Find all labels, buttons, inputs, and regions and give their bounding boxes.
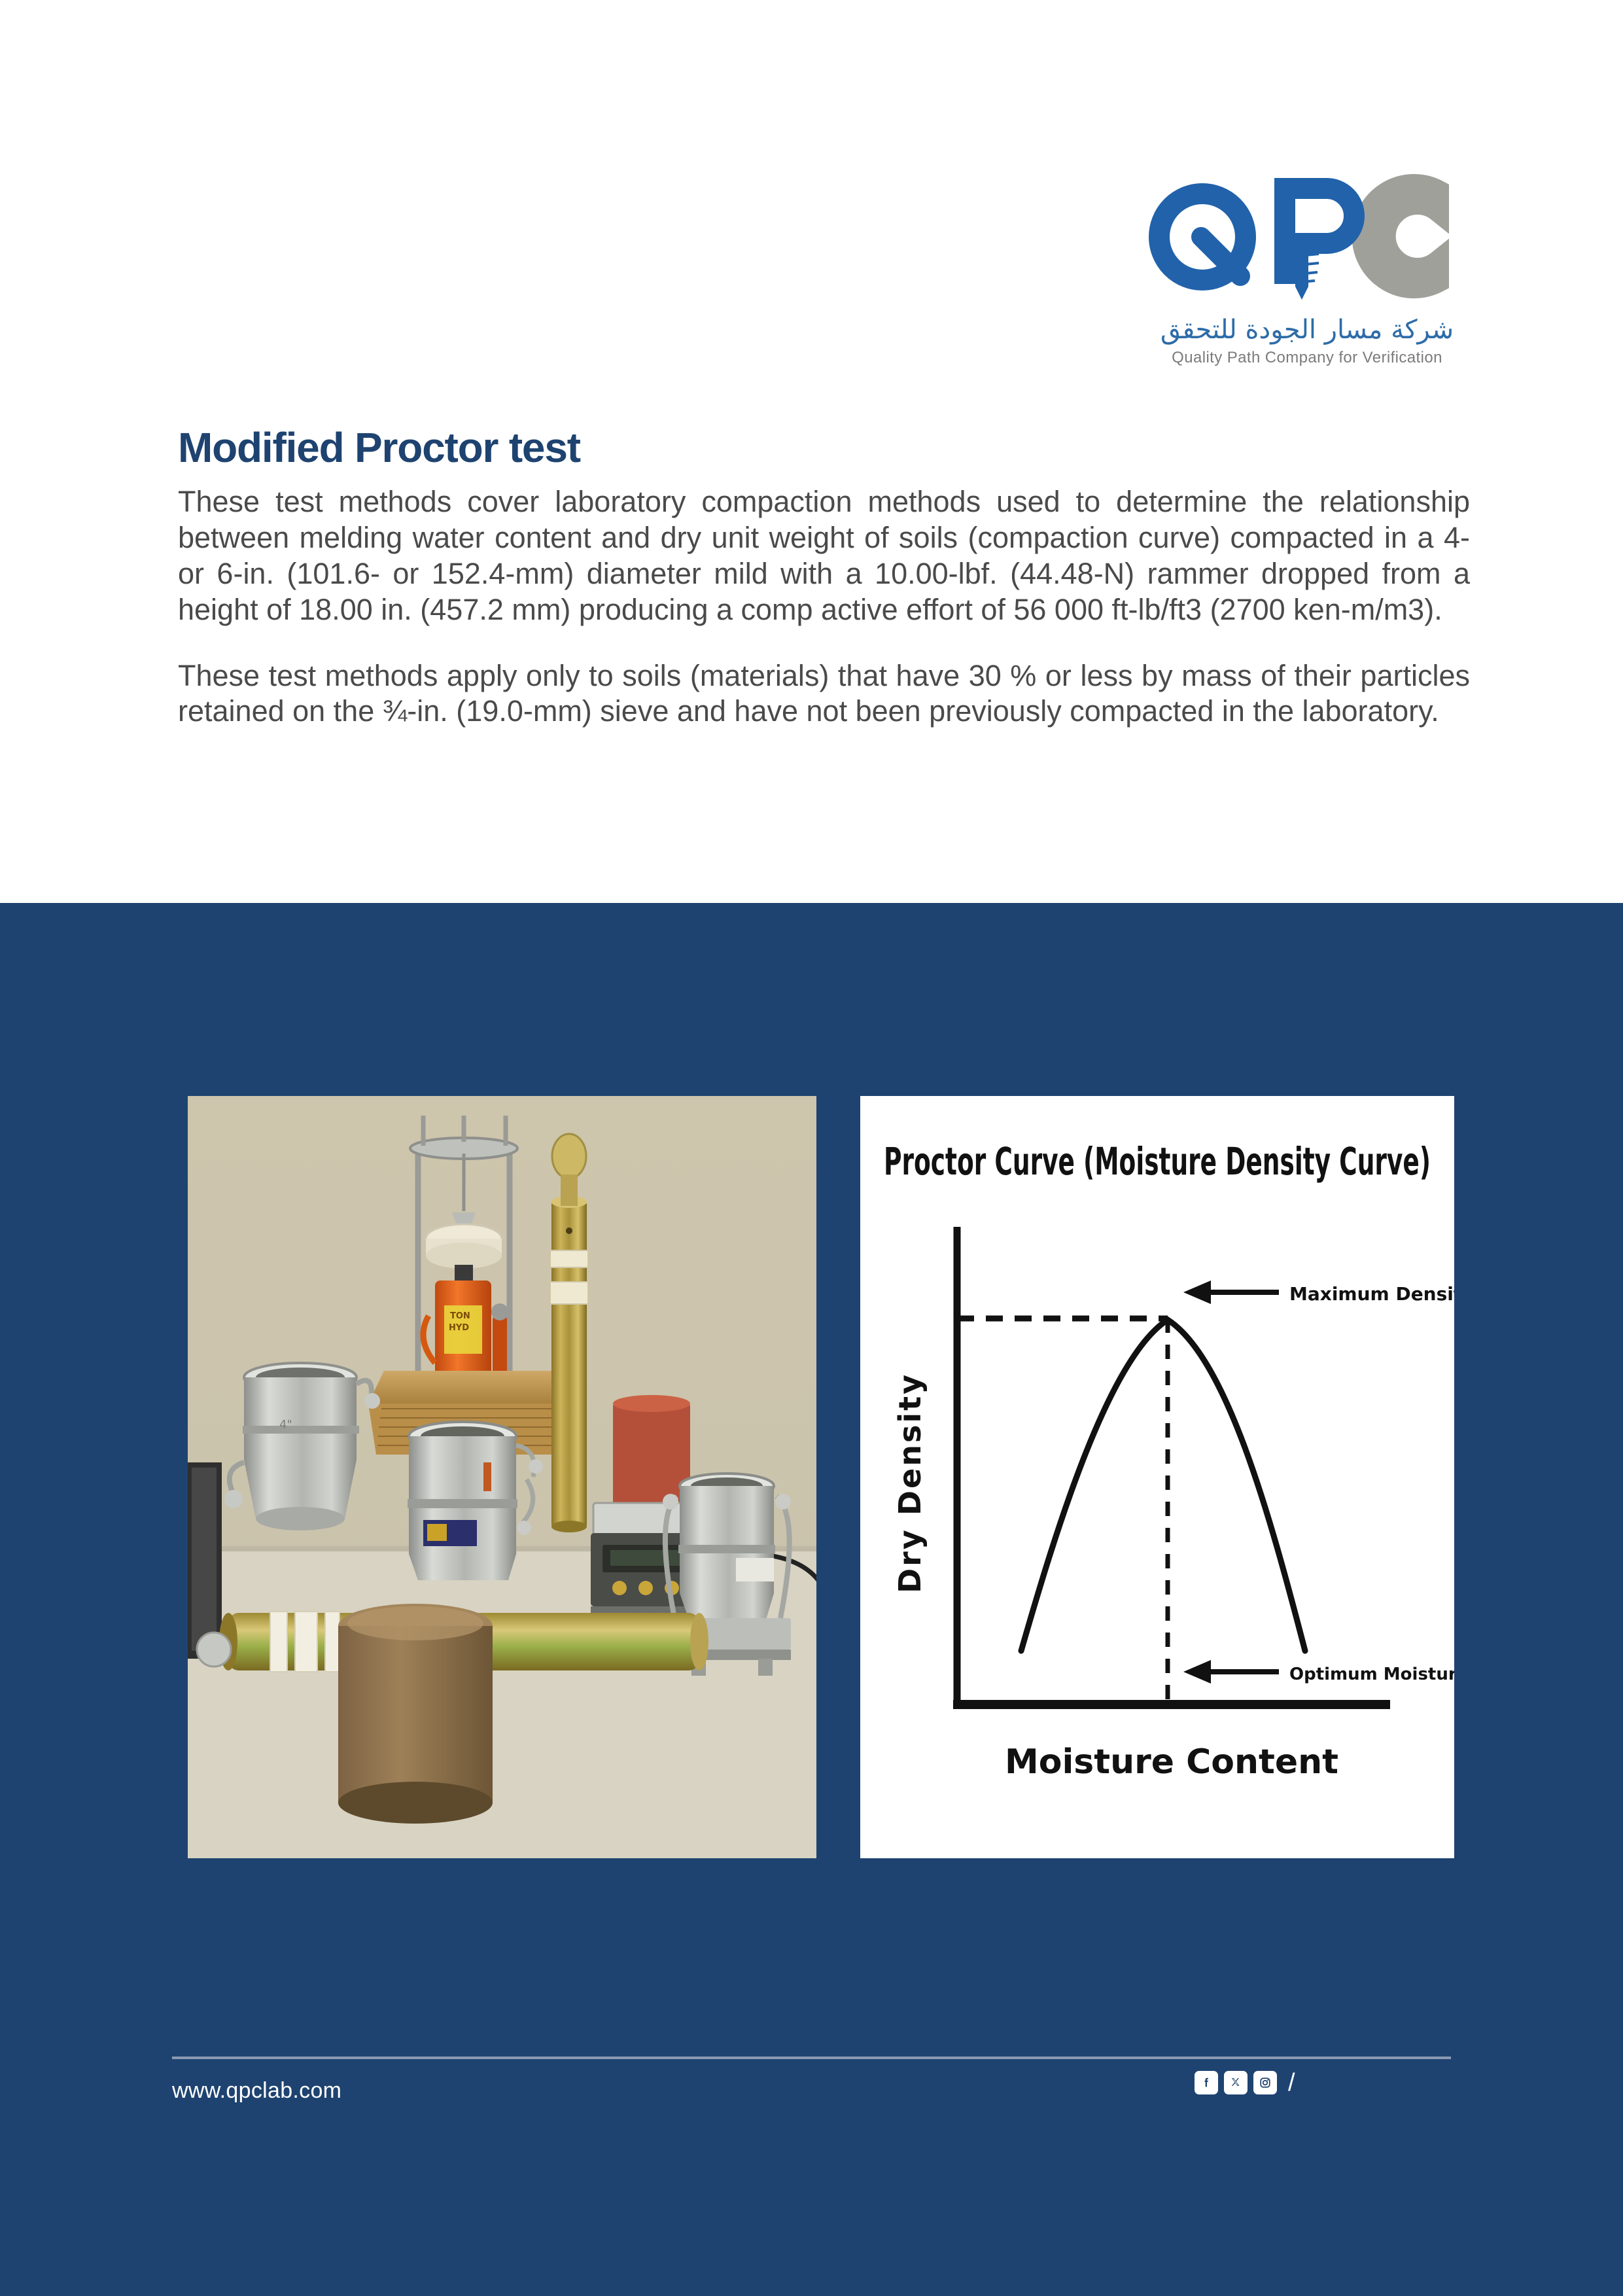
- facebook-icon[interactable]: [1195, 2071, 1218, 2094]
- x-axis-label: Moisture Content: [1005, 1742, 1338, 1782]
- footer-divider: [172, 2057, 1451, 2059]
- svg-text:HYD: HYD: [449, 1323, 469, 1333]
- chart-title: Proctor Curve (Moisture Density Curve): [884, 1139, 1431, 1184]
- qpc-logo-icon: [1130, 171, 1484, 319]
- svg-text:4": 4": [279, 1418, 292, 1432]
- max-density-label: Maximum Density: [1289, 1283, 1454, 1305]
- proctor-equipment-illustration: TONHYD: [188, 1096, 816, 1858]
- instagram-icon[interactable]: [1253, 2071, 1277, 2094]
- y-axis-label: Dry Density: [892, 1373, 928, 1593]
- footer-social-links: /: [1195, 2070, 1295, 2095]
- company-logo: شركة مسار الجودة للتحقق Quality Path Com…: [1124, 171, 1490, 387]
- logo-english-tagline: Quality Path Company for Verification: [1172, 349, 1442, 367]
- equipment-photo: TONHYD: [188, 1096, 816, 1858]
- proctor-curve-chart: Proctor Curve (Moisture Density Curve) M…: [860, 1096, 1454, 1858]
- svg-text:TON: TON: [450, 1311, 470, 1321]
- footer-separator: /: [1288, 2070, 1295, 2095]
- x-twitter-icon[interactable]: [1224, 2071, 1248, 2094]
- page-title: Modified Proctor test: [178, 423, 580, 472]
- optimum-moisture-label: Optimum Moisture: [1289, 1665, 1454, 1684]
- footer-website[interactable]: www.qpclab.com: [172, 2078, 341, 2104]
- paragraph-1: These test methods cover laboratory comp…: [178, 484, 1470, 628]
- logo-arabic-tagline: شركة مسار الجودة للتحقق: [1161, 315, 1454, 345]
- body-text: These test methods cover laboratory comp…: [178, 484, 1470, 730]
- logo-lettermark: [1130, 171, 1484, 319]
- paragraph-2: These test methods apply only to soils (…: [178, 658, 1470, 730]
- proctor-curve-figure: Proctor Curve (Moisture Density Curve) M…: [860, 1096, 1454, 1858]
